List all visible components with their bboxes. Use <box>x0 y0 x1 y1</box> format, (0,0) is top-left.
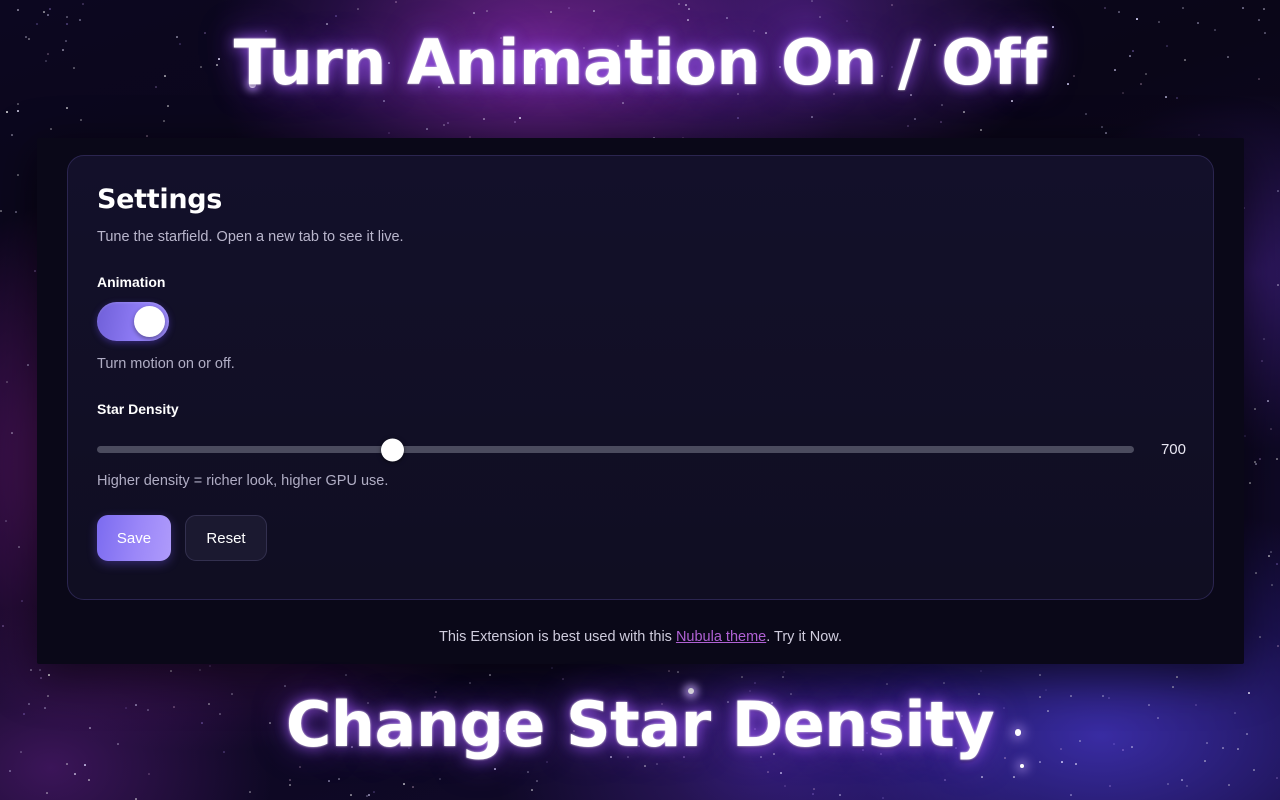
nubula-theme-link[interactable]: Nubula theme <box>676 629 766 645</box>
page-title: Settings <box>97 184 1184 215</box>
footer-text-before: This Extension is best used with this <box>439 629 676 645</box>
promo-headline-bottom: Change Star Density <box>0 688 1280 761</box>
page-subtitle: Tune the starfield. Open a new tab to se… <box>97 229 1184 245</box>
extension-popup-panel: Settings Tune the starfield. Open a new … <box>37 138 1244 664</box>
star-density-slider[interactable] <box>97 446 1134 453</box>
star-density-help-text: Higher density = richer look, higher GPU… <box>97 473 1184 489</box>
reset-button[interactable]: Reset <box>185 515 267 561</box>
animation-label: Animation <box>97 274 1184 290</box>
star-density-value: 700 <box>1152 441 1186 458</box>
star-density-label: Star Density <box>97 401 1184 417</box>
promo-headline-top: Turn Animation On / Off <box>0 26 1280 99</box>
action-button-row: Save Reset <box>97 515 1184 561</box>
save-button[interactable]: Save <box>97 515 171 561</box>
footer-text-after: . Try it Now. <box>766 629 842 645</box>
starfield-layer-faint <box>0 0 2 2</box>
footer-note: This Extension is best used with this Nu… <box>37 629 1244 645</box>
star-density-slider-row: 700 <box>97 441 1186 458</box>
glow-star <box>1020 764 1024 768</box>
animation-toggle[interactable] <box>97 302 169 341</box>
slider-thumb[interactable] <box>381 438 404 461</box>
animation-help-text: Turn motion on or off. <box>97 356 1184 372</box>
settings-card: Settings Tune the starfield. Open a new … <box>67 155 1214 600</box>
toggle-knob <box>134 306 165 337</box>
